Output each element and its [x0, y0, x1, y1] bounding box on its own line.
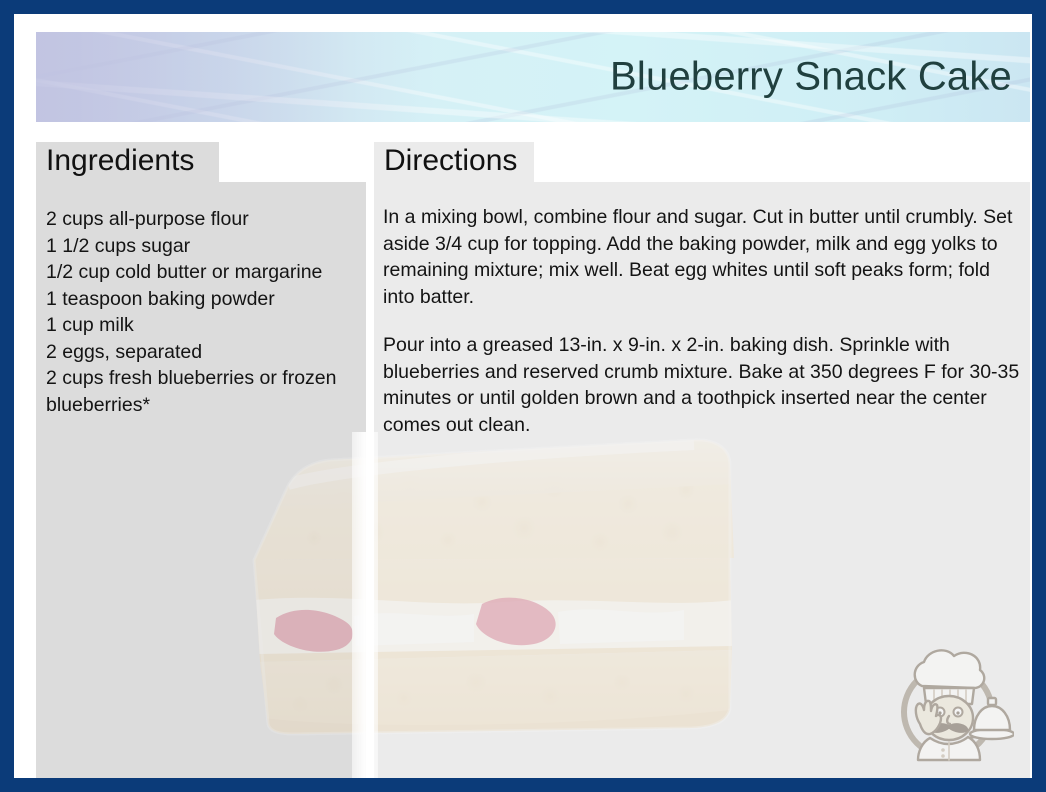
directions-body: In a mixing bowl, combine flour and suga… [383, 204, 1023, 438]
list-item: 1 cup milk [46, 312, 364, 339]
list-item: 1 teaspoon baking powder [46, 286, 364, 313]
ingredients-list: 2 cups all-purpose flour 1 1/2 cups suga… [46, 206, 364, 418]
ingredients-heading: Ingredients [46, 144, 194, 178]
title-banner: Blueberry Snack Cake [36, 32, 1030, 122]
directions-heading: Directions [384, 144, 517, 178]
ingredients-panel: 2 cups all-purpose flour 1 1/2 cups suga… [36, 182, 366, 778]
directions-paragraph: Pour into a greased 13-in. x 9-in. x 2-i… [383, 332, 1023, 438]
directions-paragraph: In a mixing bowl, combine flour and suga… [383, 204, 1023, 310]
page-title: Blueberry Snack Cake [610, 55, 1012, 100]
list-item: 1 1/2 cups sugar [46, 233, 364, 260]
list-item: 2 cups fresh blueberries or frozen blueb… [46, 365, 364, 418]
banner-left-fade [36, 32, 434, 122]
panel-gutter [366, 182, 374, 778]
page-surface: Blueberry Snack Cake Ingredients 2 cups … [14, 14, 1032, 778]
list-item: 2 eggs, separated [46, 339, 364, 366]
recipe-card: Blueberry Snack Cake Ingredients 2 cups … [0, 0, 1046, 792]
ingredients-heading-tab: Ingredients [36, 142, 219, 182]
list-item: 1/2 cup cold butter or margarine [46, 259, 364, 286]
list-item: 2 cups all-purpose flour [46, 206, 364, 233]
directions-panel: In a mixing bowl, combine flour and suga… [374, 182, 1030, 778]
directions-heading-tab: Directions [374, 142, 534, 182]
